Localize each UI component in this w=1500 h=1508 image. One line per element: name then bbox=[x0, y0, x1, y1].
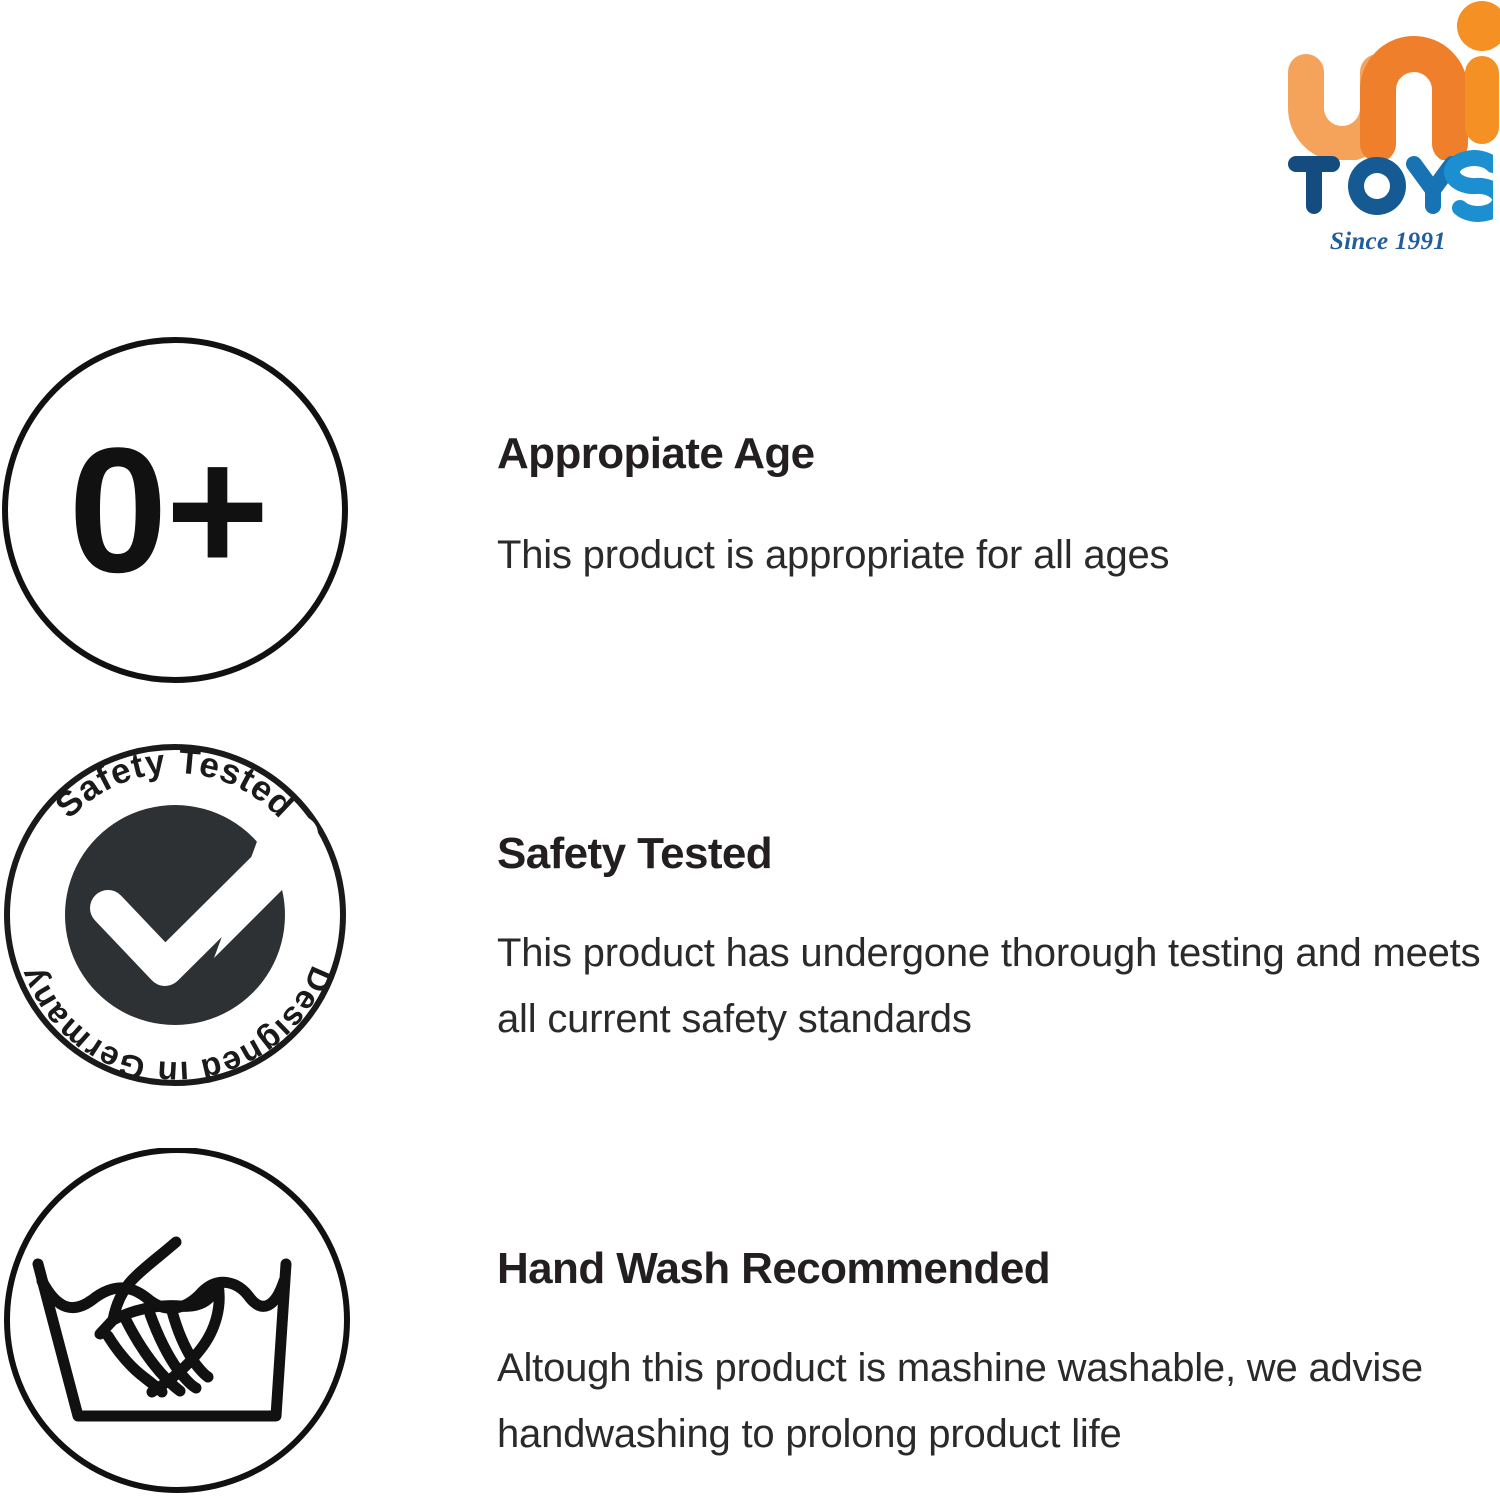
feature-description-safety-tested: This product has undergone thorough test… bbox=[497, 920, 1497, 1052]
wordmark-letter-s bbox=[1452, 158, 1493, 214]
feature-title-safety-tested: Safety Tested bbox=[497, 828, 1497, 880]
feature-text-hand-wash: Hand Wash Recommended Altough this produ… bbox=[497, 1243, 1497, 1467]
feature-text-appropriate-age: Appropiate Age This product is appropria… bbox=[497, 428, 1497, 588]
age-rating-icon: 0+ bbox=[0, 330, 360, 690]
uni-logo-mark bbox=[1288, 0, 1500, 160]
logo-letter-n bbox=[1378, 54, 1450, 144]
age-icon-label: 0+ bbox=[69, 411, 268, 610]
feature-row-appropriate-age: 0+ Appropiate Age This product is approp… bbox=[0, 330, 1500, 690]
wordmark-letter-t bbox=[1288, 156, 1340, 214]
safety-tested-badge-icon: Safety Tested Designed in Germany bbox=[0, 740, 360, 1100]
feature-title-appropriate-age: Appropiate Age bbox=[497, 428, 1497, 480]
feature-title-hand-wash: Hand Wash Recommended bbox=[497, 1243, 1497, 1295]
logo-letter-i-dot bbox=[1457, 1, 1500, 51]
feature-description-hand-wash: Altough this product is mashine washable… bbox=[497, 1335, 1497, 1467]
feature-text-safety-tested: Safety Tested This product has undergone… bbox=[497, 828, 1497, 1052]
hand-wash-icon bbox=[0, 1148, 360, 1508]
logo-letter-i-stem bbox=[1465, 56, 1499, 144]
brand-logo: Since 1991 bbox=[1288, 0, 1500, 275]
feature-row-safety-tested: Safety Tested Designed in Germany Safety… bbox=[0, 740, 1500, 1100]
wordmark-letter-o bbox=[1348, 157, 1406, 215]
feature-description-appropriate-age: This product is appropriate for all ages bbox=[497, 522, 1497, 588]
brand-tagline: Since 1991 bbox=[1288, 228, 1488, 256]
toys-wordmark bbox=[1288, 150, 1493, 222]
feature-row-hand-wash: Hand Wash Recommended Altough this produ… bbox=[0, 1148, 1500, 1500]
